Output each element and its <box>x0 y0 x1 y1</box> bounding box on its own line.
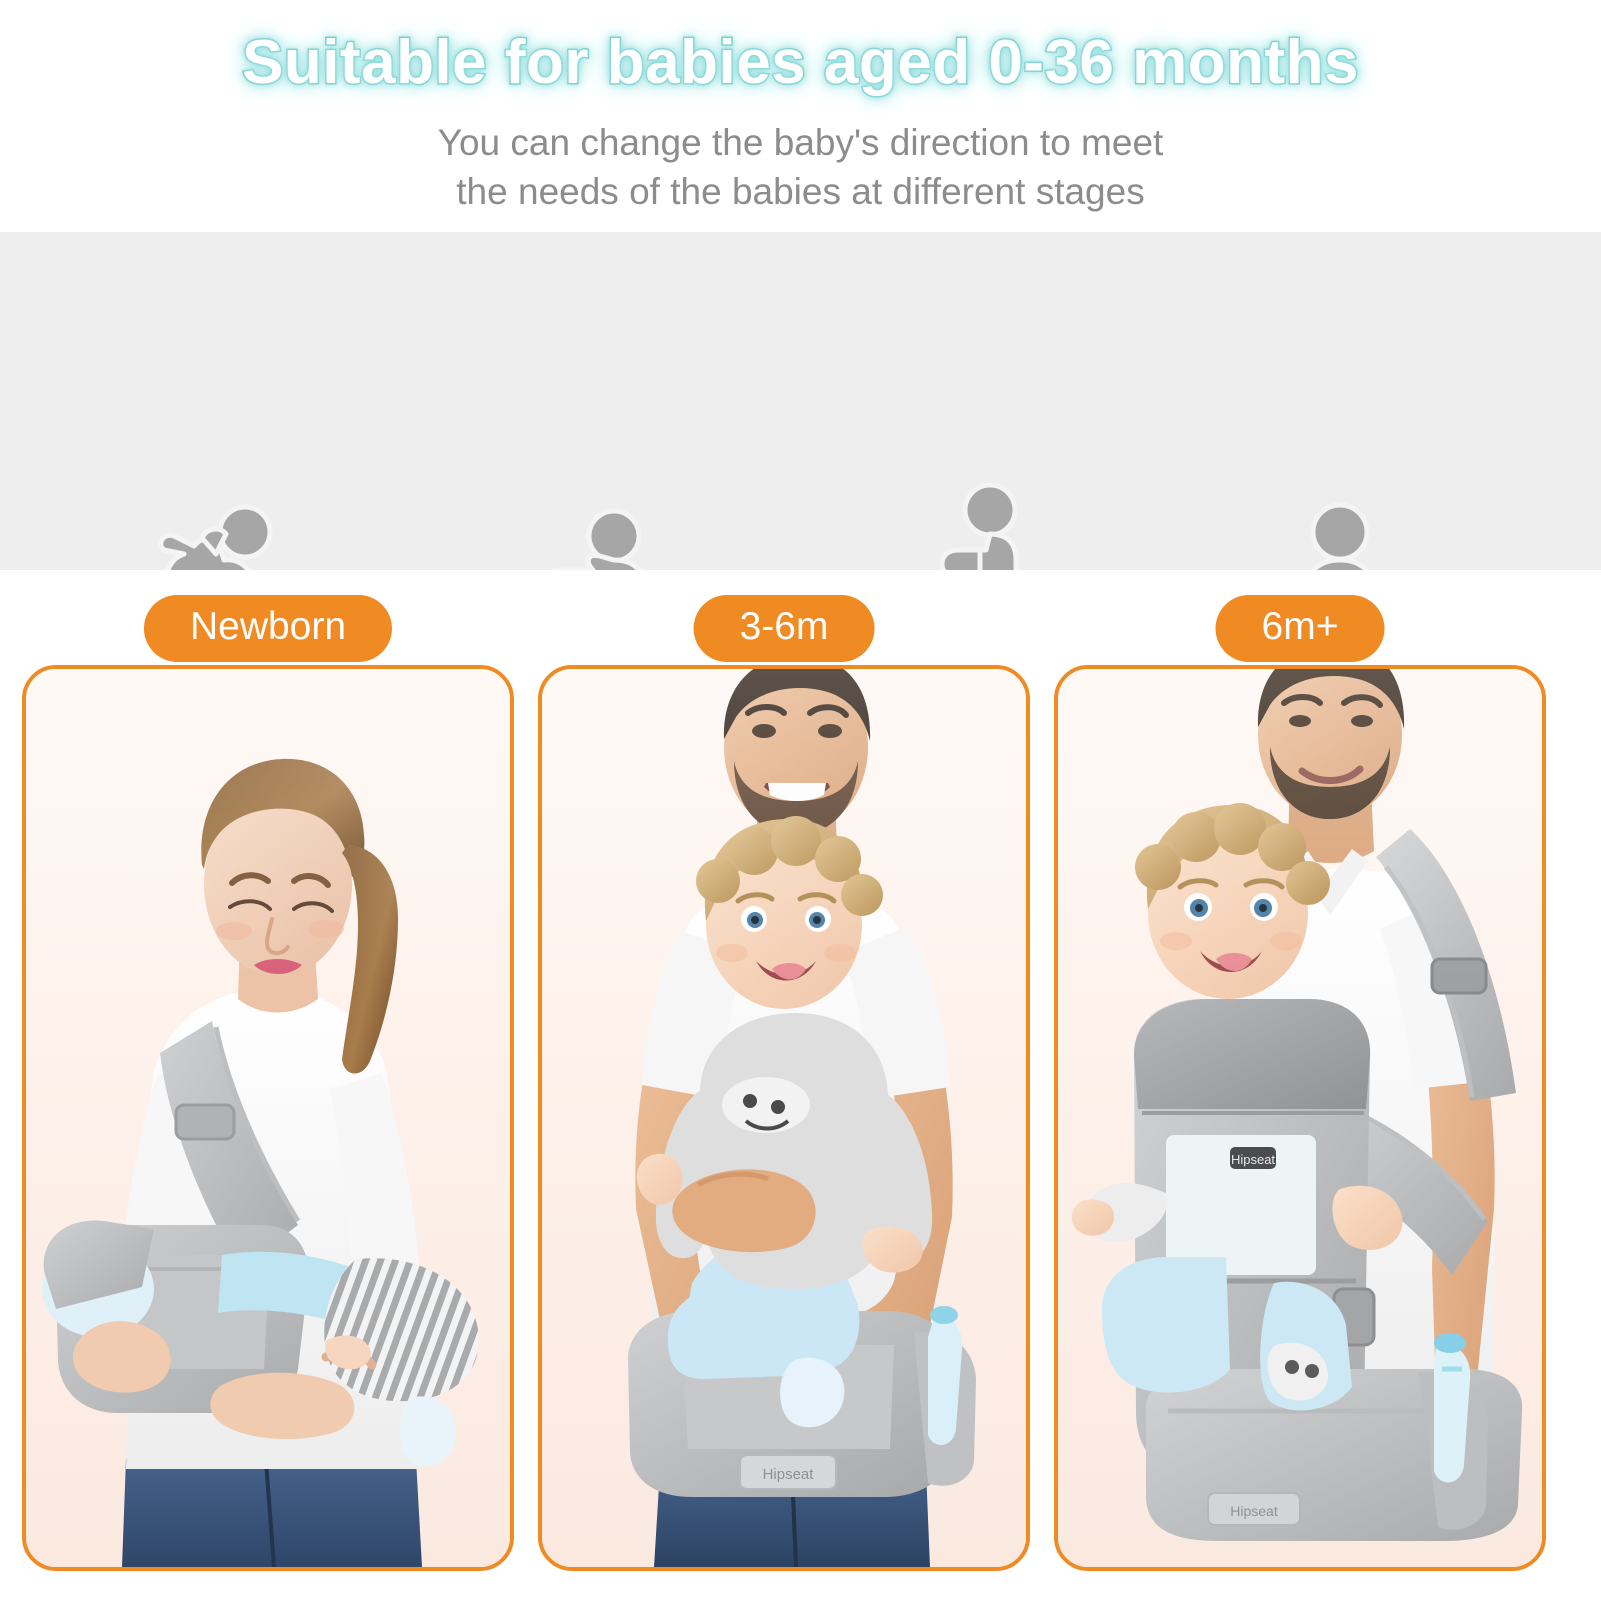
usage-card-newborn[interactable]: Newborn Woman cradling newborn in grey h… <box>22 595 514 1601</box>
page-subtitle: You can change the baby's direction to m… <box>0 118 1601 216</box>
card-photo-3-6m: Man holding toddler seated on grey hip s… <box>538 665 1030 1571</box>
usage-card-3-6m[interactable]: 3-6m Man holding toddler seated on grey … <box>538 595 1030 1601</box>
usage-card-6m-plus[interactable]: 6m+ Man carrying toddler in front-facing… <box>1054 595 1546 1601</box>
card-badge-3-6m[interactable]: 3-6m <box>694 595 875 662</box>
usage-card-gallery: Newborn Woman cradling newborn in grey h… <box>0 570 1601 1601</box>
age-timeline-band: 0 3 6 12 16 Newborn 0~3m Baby looking up… <box>0 232 1601 570</box>
header: Suitable for babies aged 0-36 months You… <box>0 0 1601 232</box>
product-infographic: Suitable for babies aged 0-36 months You… <box>0 0 1601 1601</box>
page-title: Suitable for babies aged 0-36 months <box>0 27 1601 98</box>
card-badge-6m-plus[interactable]: 6m+ <box>1216 595 1385 662</box>
card-photo-newborn: Woman cradling newborn in grey hip-seat … <box>22 665 514 1571</box>
subtitle-line-1: You can change the baby's direction to m… <box>438 122 1164 163</box>
card-photo-6m-plus: Man carrying toddler in front-facing gre… <box>1054 665 1546 1571</box>
subtitle-line-2: the needs of the babies at different sta… <box>0 167 1601 216</box>
card-badge-newborn[interactable]: Newborn <box>144 595 392 662</box>
